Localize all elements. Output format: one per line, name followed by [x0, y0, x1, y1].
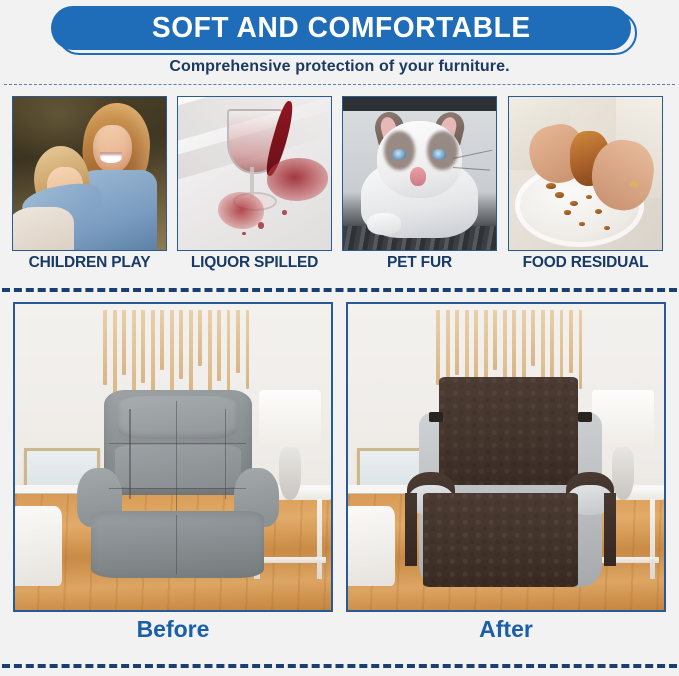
page-title: SOFT AND COMFORTABLE — [152, 14, 531, 43]
feature-image-pet-fur: Fluffy ragdoll cat licking its nose — [342, 96, 497, 251]
room-scene-after — [348, 304, 664, 610]
comparison-panel-after: Same recliner covered with a dark brown … — [346, 302, 666, 612]
feature-label-liquor-spilled: LIQUOR SPILLED — [163, 254, 346, 272]
header-banner: SOFT AND COMFORTABLE — [0, 4, 679, 56]
infographic-page: SOFT AND COMFORTABLE Comprehensive prote… — [0, 0, 679, 676]
feature-item-children-play: Two young girls hugging and laughing out… — [12, 96, 167, 251]
liquor-spilled-illustration — [178, 97, 331, 250]
feature-image-food-residual: Hands eating food over a plate with crum… — [508, 96, 663, 251]
side-stool — [346, 506, 395, 586]
feature-item-pet-fur: Fluffy ragdoll cat licking its nose PET … — [342, 96, 497, 251]
pet-fur-illustration — [343, 97, 496, 250]
feature-thumbnail-row: Two young girls hugging and laughing out… — [0, 96, 679, 281]
side-stool — [13, 506, 62, 586]
comparison-caption-after: After — [346, 616, 666, 643]
children-play-illustration — [13, 97, 166, 250]
comparison-panel-before: Bare gray fabric recliner in a living ro… — [13, 302, 333, 612]
feature-label-pet-fur: PET FUR — [328, 254, 511, 272]
page-subtitle: Comprehensive protection of your furnitu… — [0, 58, 679, 76]
divider-under-subtitle — [4, 84, 675, 85]
before-after-comparison: Bare gray fabric recliner in a living ro… — [0, 302, 679, 662]
comparison-caption-before: Before — [13, 616, 333, 643]
feature-label-children-play: CHILDREN PLAY — [0, 254, 181, 272]
feature-image-children-play: Two young girls hugging and laughing out… — [12, 96, 167, 251]
comparison-image-after: Same recliner covered with a dark brown … — [346, 302, 666, 612]
divider-above-comparison — [2, 288, 677, 292]
feature-image-liquor-spilled: Red wine pouring from a glass and splash… — [177, 96, 332, 251]
banner-fill: SOFT AND COMFORTABLE — [51, 6, 631, 50]
comparison-image-before: Bare gray fabric recliner in a living ro… — [13, 302, 333, 612]
recliner-with-slipcover — [411, 377, 610, 591]
food-residual-illustration — [509, 97, 662, 250]
recliner-uncovered — [88, 390, 268, 586]
feature-item-food-residual: Hands eating food over a plate with crum… — [508, 96, 663, 251]
divider-bottom — [2, 664, 677, 668]
feature-label-food-residual: FOOD RESIDUAL — [494, 254, 677, 272]
room-scene-before — [15, 304, 331, 610]
feature-item-liquor-spilled: Red wine pouring from a glass and splash… — [177, 96, 332, 251]
